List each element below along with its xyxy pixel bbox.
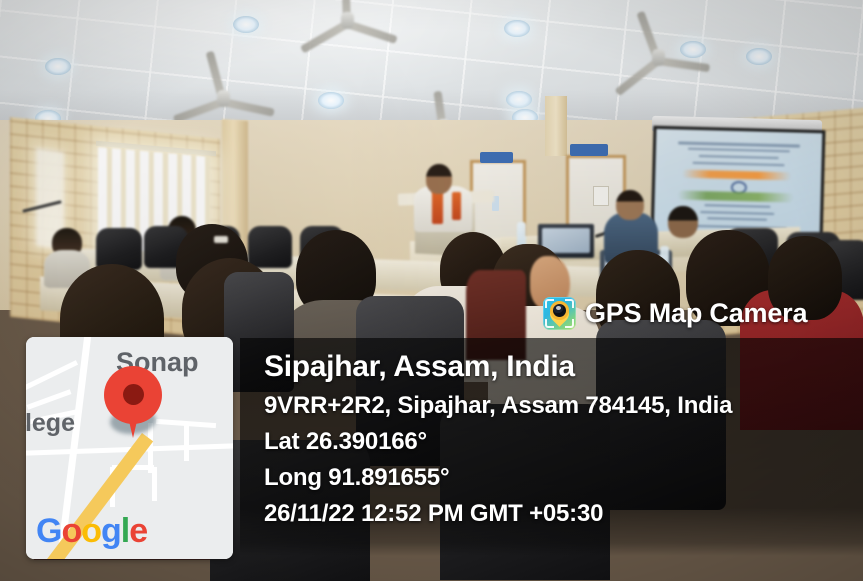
viewfinder-corner-icon (545, 319, 554, 328)
location-address-line: 9VRR+2R2, Sipajhar, Assam 784145, India (264, 388, 863, 424)
hair-clip (214, 236, 228, 243)
viewfinder-corner-icon (565, 299, 574, 308)
screenshot-root: GPS Map Camera Sipajhar, Assam, India 9V… (0, 0, 863, 581)
google-letter-o1: o (61, 512, 81, 551)
flag-saffron-band (682, 170, 792, 181)
downlight-icon (746, 48, 772, 65)
downlight-icon (45, 58, 71, 75)
ceiling-fan (603, 37, 713, 77)
seated-person-head (668, 206, 698, 238)
google-letter-o2: o (81, 512, 101, 551)
viewfinder-corner-icon (565, 319, 574, 328)
location-timestamp-line: 26/11/22 12:52 PM GMT +05:30 (264, 496, 863, 532)
door-sign-right (570, 144, 608, 156)
gps-map-camera-icon (543, 297, 576, 330)
google-letter-l: l (121, 512, 129, 551)
google-letter-e: e (129, 512, 147, 551)
downlight-icon (506, 91, 532, 108)
chair (248, 226, 292, 268)
downlight-icon (504, 20, 530, 37)
downlight-icon (318, 92, 344, 109)
viewfinder-corner-icon (545, 299, 554, 308)
speaker-head (426, 164, 452, 194)
door-notice-paper (593, 186, 609, 206)
ceiling-fan (168, 78, 278, 118)
seated-presenter-head (616, 190, 644, 220)
speaker-scarf (452, 192, 461, 220)
flag-green-band (678, 191, 794, 203)
ceiling-pillar (545, 96, 567, 156)
location-longitude-line: Long 91.891655° (264, 460, 863, 496)
location-pin-marker[interactable] (104, 366, 162, 424)
map-road (152, 467, 157, 501)
location-info-panel: Sipajhar, Assam, India 9VRR+2R2, Sipajha… (240, 338, 863, 556)
ceiling-fan (292, 0, 402, 40)
speaker-scarf (432, 190, 443, 224)
google-letter-g2: g (101, 512, 121, 551)
pin-center-dot (123, 384, 144, 405)
google-logo: Google (36, 512, 147, 551)
location-city-line: Sipajhar, Assam, India (264, 346, 863, 388)
location-latitude-line: Lat 26.390166° (264, 424, 863, 460)
google-letter-g: G (36, 512, 61, 551)
map-label-college: llege (26, 409, 75, 438)
downlight-icon (233, 16, 259, 33)
map-road (184, 425, 189, 461)
gps-map-camera-watermark: GPS Map Camera (543, 297, 807, 330)
door-sign-left (480, 152, 513, 163)
app-watermark-label: GPS Map Camera (585, 298, 807, 329)
map-thumbnail[interactable]: Sonap llege Google (26, 337, 233, 559)
